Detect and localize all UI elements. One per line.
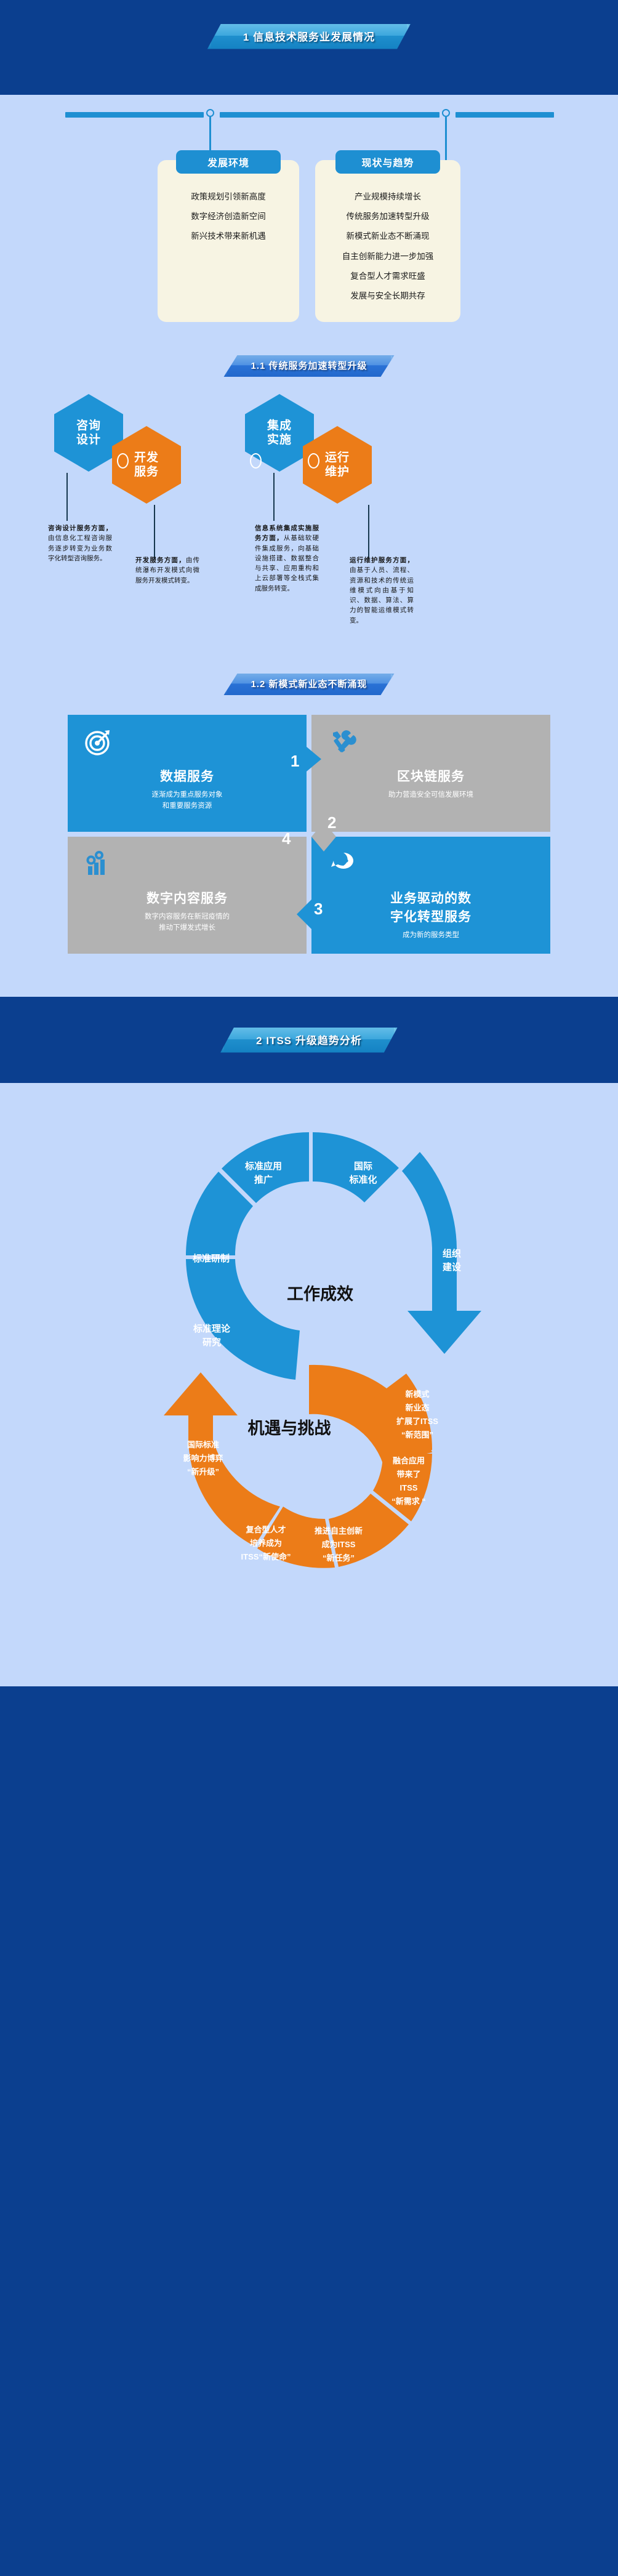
timeline-bar-right (455, 112, 554, 118)
hexagon-row: 咨询 设计 开发 服务 集成 实施 运行 维护 (31, 394, 587, 517)
card-line: 新兴技术带来新机遇 (166, 227, 291, 246)
cycle-svg: 标准应用 推广 国际 标准化 组织 建设 标准研制 标准理论 研究 工作成效 (31, 1108, 587, 1649)
quadrant-number-3: 3 (314, 900, 323, 919)
bottom-segment-label-1b: 新业态 (405, 1403, 429, 1412)
section-1-2-banner-title: 1.2 新模式新业态不断涌现 (251, 679, 367, 690)
bottom-segment-label-3c: “新任务” (323, 1553, 355, 1563)
timeline-stem-right (445, 117, 447, 164)
hex-line-2: 设计 (76, 433, 101, 447)
card-line: 自主创新能力进一步加强 (324, 247, 452, 267)
desc-consulting-design: 咨询设计服务方面，由信息化工程咨询服务逐步转变为业务数字化转型咨询服务。 (48, 523, 112, 563)
cycle-diagram: 标准应用 推广 国际 标准化 组织 建设 标准研制 标准理论 研究 工作成效 (31, 1108, 587, 1649)
banner-shape: 1 信息技术服务业发展情况 (207, 24, 411, 49)
card-line: 发展与安全长期共存 (324, 286, 452, 306)
hex-line-2: 实施 (267, 433, 292, 447)
bottom-segment-label-1c: 扩展了ITSS (396, 1417, 438, 1426)
leader-line-3 (273, 473, 275, 521)
hex-link-ring-2 (250, 453, 262, 469)
card-title: 现状与趋势 (335, 150, 440, 174)
cycle-center-label-top: 工作成效 (287, 1285, 353, 1303)
card-line-list: 产业规模持续增长 传统服务加速转型升级 新模式新业态不断涌现 自主创新能力进一步… (324, 187, 452, 306)
bottom-segment-label-1a: 新模式 (405, 1390, 429, 1399)
desc-body: 从基础软硬件集成服务，向基础设施搭建、数据整合与共享、应用重构和上云部署等全栈式… (255, 534, 319, 592)
card-development-environment: 发展环境 政策规划引领新高度 数字经济创造新空间 新兴技术带来新机遇 (158, 160, 299, 322)
quadrant-arrow-overlay (68, 715, 550, 954)
desc-body: 由信息化工程咨询服务逐步转变为业务数字化转型咨询服务。 (48, 534, 112, 562)
desc-integration-implementation: 信息系统集成实施服务方面，从基础软硬件集成服务，向基础设施搭建、数据整合与共享、… (255, 523, 319, 594)
section-1-cards: 发展环境 政策规划引领新高度 数字经济创造新空间 新兴技术带来新机遇 现状与趋势… (31, 160, 587, 322)
card-line: 传统服务加速转型升级 (324, 207, 452, 227)
section-2-banner: 2 ITSS 升级趋势分析 (0, 1028, 618, 1053)
top-arc-group: 标准应用 推广 国际 标准化 组织 建设 标准研制 标准理论 研究 工作成效 (186, 1132, 481, 1380)
timeline-connector (31, 95, 587, 135)
bottom-arc-group: 新模式 新业态 扩展了ITSS “新范围” 融合应用 带来了 ITSS “新需求… (164, 1365, 438, 1568)
timeline-bar-left (65, 112, 204, 118)
section-2-header-strip: 2 ITSS 升级趋势分析 (0, 997, 618, 1083)
timeline-dot-right (442, 109, 450, 117)
cycle-center-label-bottom: 机遇与挑战 (248, 1419, 331, 1438)
bottom-segment-label-4c: ITSS“新使命” (241, 1552, 291, 1561)
quadrant-number-4: 4 (282, 829, 291, 848)
card-line: 新模式新业态不断涌现 (324, 227, 452, 246)
card-line-list: 政策规划引领新高度 数字经济创造新空间 新兴技术带来新机遇 (166, 187, 291, 247)
hex-line-1: 运行 (325, 451, 350, 465)
section-1-1-banner: 1.1 传统服务加速转型升级 (31, 355, 587, 377)
top-segment-label-5a: 标准理论 (193, 1323, 231, 1334)
banner-shape: 1.2 新模式新业态不断涌现 (223, 674, 394, 695)
top-segment-organization-building (402, 1152, 481, 1354)
top-segment-label-3a: 组织 (443, 1248, 461, 1259)
card-line: 复合型人才需求旺盛 (324, 267, 452, 286)
quadrant-number-2: 2 (327, 813, 336, 832)
card-line: 产业规模持续增长 (324, 187, 452, 207)
card-line: 政策规划引领新高度 (166, 187, 291, 207)
timeline-dot-left (206, 109, 214, 117)
banner-shape: 2 ITSS 升级趋势分析 (220, 1028, 398, 1053)
desc-development-service: 开发服务方面，由传统瀑布开发模式向微服务开发模式转变。 (135, 555, 199, 586)
top-segment-standard-theory (186, 1259, 300, 1380)
card-title: 发展环境 (176, 150, 281, 174)
bottom-segment-label-5a: 国际标准 (187, 1440, 219, 1449)
top-segment-label-1a: 标准应用 (244, 1161, 282, 1172)
section-1-content: 发展环境 政策规划引领新高度 数字经济创造新空间 新兴技术带来新机遇 现状与趋势… (31, 95, 587, 978)
bottom-segment-label-5c: “新升级” (187, 1467, 219, 1476)
section-2-banner-title: 2 ITSS 升级趋势分析 (256, 1035, 362, 1047)
bottom-segment-label-2a: 融合应用 (393, 1456, 425, 1465)
bottom-segment-label-2b: 带来了 (396, 1470, 420, 1479)
bottom-segment-label-3a: 推进自主创新 (315, 1526, 363, 1536)
top-segment-label-2a: 国际 (354, 1161, 372, 1172)
desc-operation-maintenance: 运行维护服务方面，由基于人员、流程、资源和技术的传统运维模式向由基于知识、数据、… (350, 555, 414, 626)
desc-lead: 运行维护服务方面， (350, 557, 414, 564)
description-row: 咨询设计服务方面，由信息化工程咨询服务逐步转变为业务数字化转型咨询服务。 开发服… (31, 523, 587, 646)
hex-link-ring-1 (117, 453, 129, 469)
bottom-segment-label-1d: “新范围” (401, 1430, 433, 1439)
section-1-banner: 1 信息技术服务业发展情况 (0, 24, 618, 49)
bottom-segment-label-3b: 成为ITSS (322, 1540, 356, 1549)
hex-line-2: 服务 (134, 465, 159, 479)
timeline-bar-mid (220, 112, 439, 118)
top-segment-label-4: 标准研制 (192, 1253, 230, 1264)
card-status-and-trends: 现状与趋势 产业规模持续增长 传统服务加速转型升级 新模式新业态不断涌现 自主创… (315, 160, 460, 322)
top-segment-label-3b: 建设 (443, 1262, 461, 1273)
desc-body: 由基于人员、流程、资源和技术的传统运维模式向由基于知识、数据、算法、算力的智能运… (350, 566, 414, 624)
top-segment-label-2b: 标准化 (348, 1174, 377, 1185)
bottom-segment-label-5b: 影响力博弈 (183, 1454, 223, 1463)
hex-line-1: 集成 (267, 419, 292, 433)
top-segment-label-1b: 推广 (254, 1174, 273, 1185)
section-1-panel: 发展环境 政策规划引领新高度 数字经济创造新空间 新兴技术带来新机遇 现状与趋势… (0, 95, 618, 997)
infographic-page: 1 信息技术服务业发展情况 发展环境 政策规划引领新高度 (0, 0, 618, 1686)
hex-line-1: 咨询 (76, 419, 101, 433)
section-1-banner-title: 1 信息技术服务业发展情况 (243, 31, 375, 43)
section-2-panel: 标准应用 推广 国际 标准化 组织 建设 标准研制 标准理论 研究 工作成效 (0, 1083, 618, 1686)
banner-shape: 1.1 传统服务加速转型升级 (223, 355, 394, 377)
desc-lead: 咨询设计服务方面， (48, 525, 112, 532)
top-segment-label-5b: 研究 (203, 1337, 221, 1348)
bottom-segment-label-2d: “新需求 “ (391, 1497, 426, 1506)
card-line: 数字经济创造新空间 (166, 207, 291, 227)
bottom-segment-label-4a: 复合型人才 (245, 1525, 286, 1534)
leader-line-1 (66, 473, 68, 521)
section-1-header-strip: 1 信息技术服务业发展情况 (0, 0, 618, 73)
section-1-1-banner-title: 1.1 传统服务加速转型升级 (251, 361, 367, 371)
section-1-2-banner: 1.2 新模式新业态不断涌现 (31, 674, 587, 695)
quadrant-number-1: 1 (291, 752, 299, 771)
hex-line-1: 开发 (134, 451, 159, 465)
bottom-segment-label-2c: ITSS (400, 1483, 418, 1492)
desc-lead: 开发服务方面， (135, 557, 186, 564)
hex-line-2: 维护 (325, 465, 350, 479)
quadrant-grid: 数据服务 逐渐成为重点服务对象 和重要服务资源 区块链服务 助力营造 (68, 715, 550, 954)
bottom-segment-label-4b: 培养成为 (250, 1539, 282, 1548)
hex-link-ring-3 (308, 453, 319, 469)
